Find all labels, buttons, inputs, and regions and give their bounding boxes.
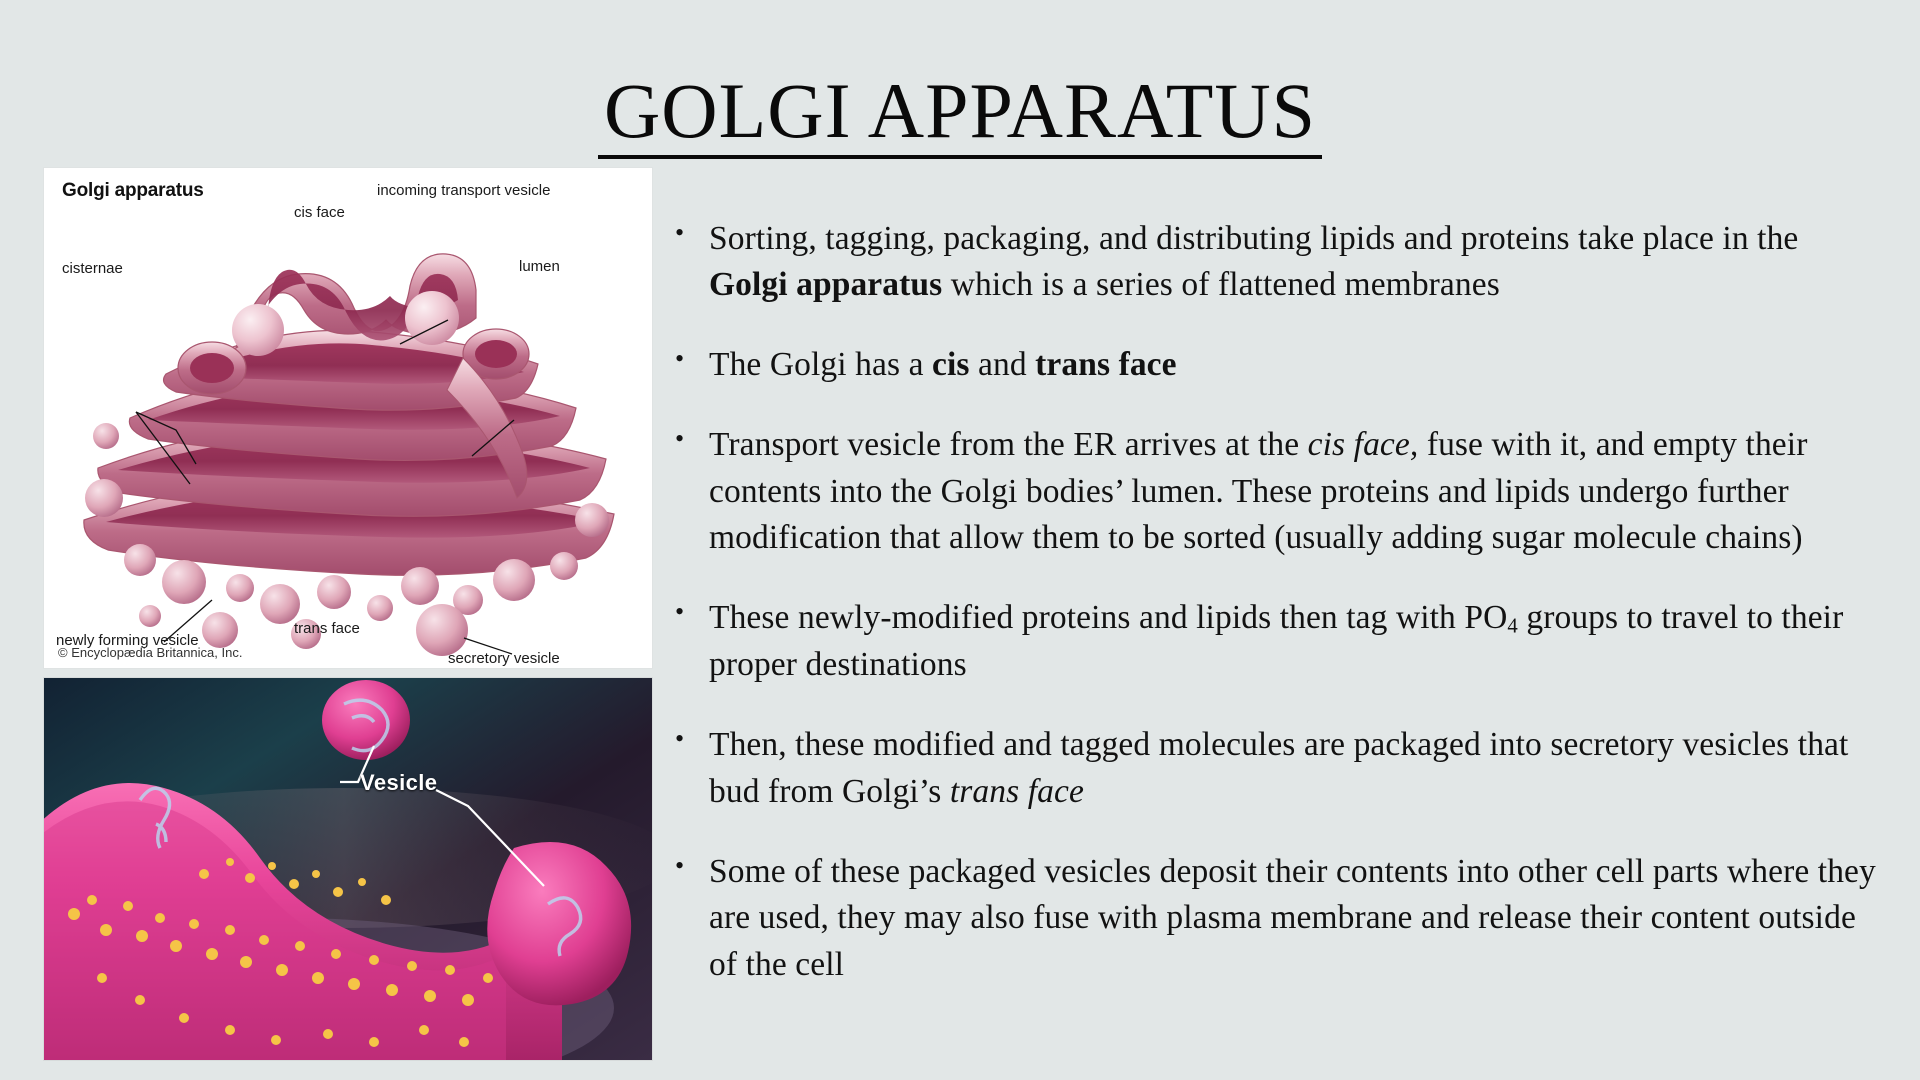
secretory-vesicle	[416, 604, 468, 656]
bullet-segment: Some of these packaged vesicles deposit …	[709, 853, 1876, 983]
newly-forming-vesicle	[202, 612, 238, 648]
bullet-faces: The Golgi has a cis and trans face	[665, 342, 1880, 389]
bullet-segment: Transport vesicle from the ER arrives at…	[709, 426, 1308, 463]
vesicle	[401, 567, 439, 605]
diagram-credit: © Encyclopædia Britannica, Inc.	[58, 645, 242, 660]
label-incoming-transport-vesicle: incoming transport vesicle	[377, 182, 550, 199]
vesicle	[226, 574, 254, 602]
vesicle	[124, 544, 156, 576]
vesicle	[575, 503, 609, 537]
golgi-diagram-graphic	[44, 168, 652, 668]
photo-label-vesicle: Vesicle	[360, 770, 437, 796]
bullet-segment: Sorting, tagging, packaging, and distrib…	[709, 220, 1798, 257]
bullet-segment: which is a series of flattened membranes	[942, 266, 1500, 303]
golgi-photo-graphic	[44, 678, 652, 1060]
bullet-po4-tag: These newly-modified proteins and lipids…	[665, 595, 1880, 688]
bullet-list: Sorting, tagging, packaging, and distrib…	[665, 182, 1880, 1010]
label-lumen: lumen	[519, 258, 560, 275]
vesicle	[85, 479, 123, 517]
golgi-photo-image: Vesicle	[44, 678, 652, 1060]
vesicle	[493, 559, 535, 601]
label-trans-face: trans face	[294, 620, 360, 637]
bullet-segment-bold: cis	[932, 346, 970, 383]
label-cis-face: cis face	[294, 204, 345, 221]
bullet-segment: and	[970, 346, 1036, 383]
bullet-segment: The Golgi has a	[709, 346, 932, 383]
bullet-segment: These newly-modified proteins and lipids…	[709, 599, 1507, 636]
bullet-segment: Then, these modified and tagged molecule…	[709, 726, 1848, 810]
label-secretory-vesicle: secretory vesicle	[448, 650, 560, 667]
bullet-sorting: Sorting, tagging, packaging, and distrib…	[665, 216, 1880, 309]
free-vesicle	[322, 680, 410, 760]
bullet-segment-bold: trans face	[1035, 346, 1176, 383]
bullet-deposit-contents: Some of these packaged vesicles deposit …	[665, 849, 1880, 989]
vesicle	[232, 304, 284, 356]
vesicle	[260, 584, 300, 624]
vesicle	[550, 552, 578, 580]
vesicle	[367, 595, 393, 621]
cisterna-tube-lumen	[475, 340, 517, 368]
vesicle	[93, 423, 119, 449]
bullet-segment-italic: trans face	[950, 773, 1084, 810]
bullet-transport-vesicle: Transport vesicle from the ER arrives at…	[665, 422, 1880, 562]
bullet-packaged-secretory: Then, these modified and tagged molecule…	[665, 722, 1880, 815]
bullet-segment-bold: Golgi apparatus	[709, 266, 942, 303]
media-column: Golgi apparatus cisternae cis face incom…	[44, 168, 652, 1060]
label-cisternae: cisternae	[62, 260, 123, 277]
golgi-diagram-image: Golgi apparatus cisternae cis face incom…	[44, 168, 652, 668]
cisterna-tube-lumen	[190, 353, 234, 383]
diagram-title: Golgi apparatus	[62, 180, 204, 202]
vesicle	[162, 560, 206, 604]
bullet-segment-subscript: 4	[1507, 615, 1517, 638]
vesicle	[139, 605, 161, 627]
bullet-segment-italic: cis face,	[1308, 426, 1419, 463]
vesicle	[317, 575, 351, 609]
page-title: GOLGI APPARATUS	[598, 70, 1322, 159]
